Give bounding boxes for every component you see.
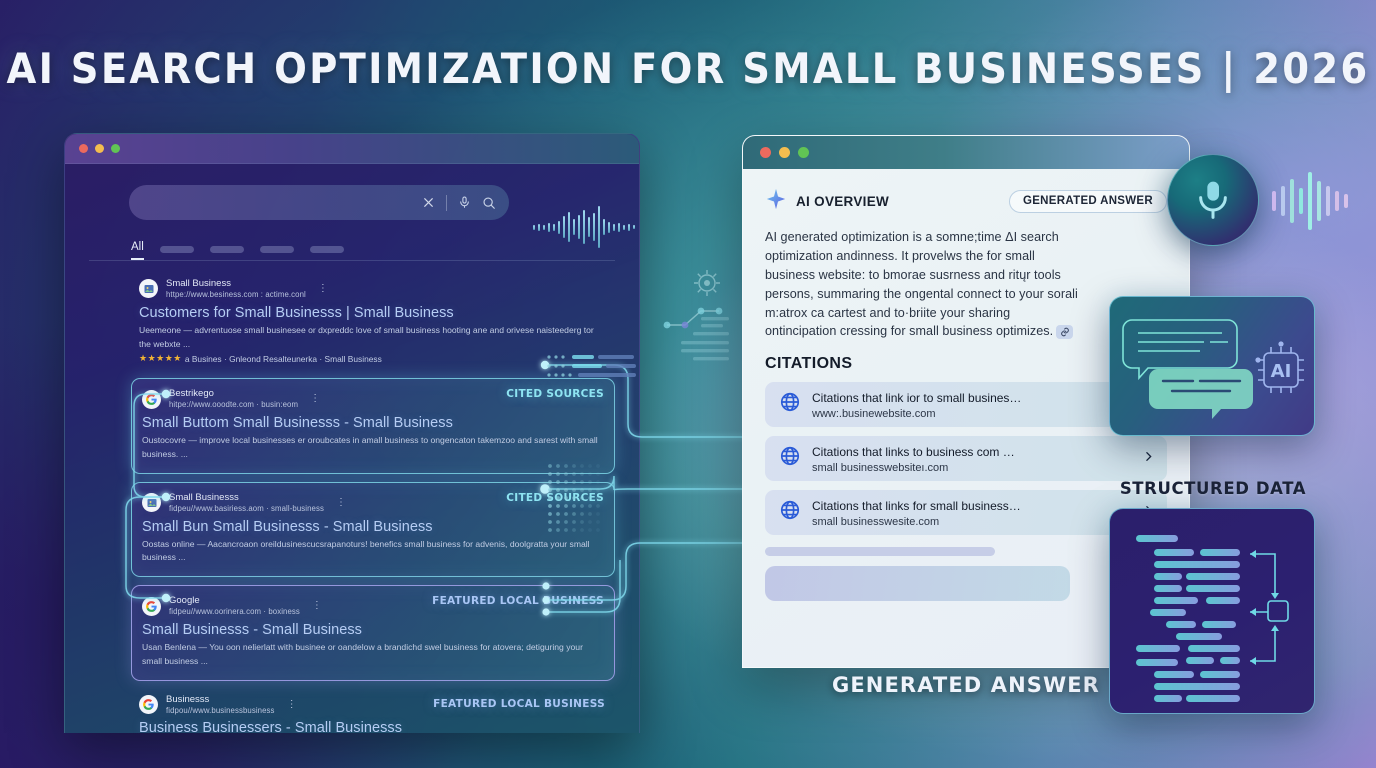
- ai-titlebar: [743, 136, 1189, 169]
- structured-data-illustration: AI: [1110, 297, 1315, 436]
- kebab-menu-icon[interactable]: ⋮: [336, 500, 346, 506]
- sparkle-icon: [765, 188, 787, 215]
- result-snippet: Oostas online — Aacancroaon oreildusines…: [142, 538, 604, 566]
- tab-placeholder[interactable]: [160, 246, 194, 253]
- result-url: httpe://www.besiness.com : actime.conl: [166, 290, 306, 300]
- microphone-icon[interactable]: [458, 195, 471, 210]
- microphone-icon: [1193, 177, 1233, 223]
- result-meta: Bestrikego hitpe://www.ooodte.com · busi…: [169, 388, 298, 410]
- result-site: Google: [169, 595, 300, 607]
- window-minimize-dot[interactable]: [95, 144, 104, 153]
- ai-overview-text: AI generated optimization is a somne;tim…: [765, 228, 1080, 341]
- result-title[interactable]: Small Businesss - Small Business: [142, 622, 604, 638]
- audio-waveform-decor: [533, 206, 635, 248]
- citation-text: Citations that links for small business……: [812, 497, 1131, 528]
- tab-placeholder[interactable]: [210, 246, 244, 253]
- result-site: Small Businesss: [169, 492, 324, 504]
- structured-data-label: STRUCTURED DATA: [1107, 479, 1319, 498]
- citation-title: Citations that links to business com …: [812, 445, 1015, 459]
- tabs-divider: [89, 260, 615, 261]
- close-icon[interactable]: [422, 196, 435, 209]
- result-site: Businesss: [166, 694, 275, 706]
- tab-all[interactable]: All: [131, 242, 144, 261]
- citation-url: small businesswebsiteı.com: [812, 462, 1131, 474]
- search-result-item[interactable]: Small Business httpe://www.besiness.com …: [131, 273, 615, 370]
- window-minimize-dot[interactable]: [779, 147, 790, 158]
- status-badge: CITED SOURCES: [506, 492, 604, 504]
- result-url: fidpeu//www.oorinera.com · boxiness: [169, 607, 300, 617]
- result-meta: Small Businesss fidpeu//www.basiriess.ao…: [169, 492, 324, 514]
- status-badge: FEATURED LOCAL BUSINESS: [433, 698, 605, 710]
- search-results-list: Small Business httpe://www.besiness.com …: [89, 273, 615, 733]
- kebab-menu-icon[interactable]: ⋮: [310, 396, 320, 402]
- google-favicon: [139, 695, 158, 714]
- result-meta: Small Business httpe://www.besiness.com …: [166, 278, 306, 300]
- generated-answer-badge: GENERATED ANSWER: [1009, 190, 1167, 213]
- window-maximize-dot[interactable]: [798, 147, 809, 158]
- result-title[interactable]: Small Buttom Small Businesss - Small Bus…: [142, 415, 604, 431]
- result-snippet: Ueemeone — advrentuose small businesee o…: [139, 324, 607, 352]
- tab-placeholder[interactable]: [260, 246, 294, 253]
- result-url: fidpeu//www.basiriess.aom · small-busine…: [169, 504, 324, 514]
- divider: [446, 195, 447, 211]
- microphone-badge[interactable]: [1167, 154, 1259, 246]
- search-input[interactable]: [129, 185, 509, 220]
- content-placeholder-block: [765, 566, 1070, 601]
- result-rating: ★★★★★ a Busines · Gnleond Resalteunerka …: [139, 353, 607, 364]
- kebab-menu-icon[interactable]: ⋮: [318, 286, 328, 292]
- status-badge: CITED SOURCES: [506, 388, 604, 400]
- structured-data-panel: AI: [1109, 296, 1315, 436]
- citation-text: Citations that links to business com … s…: [812, 443, 1131, 474]
- image-favicon: [142, 493, 161, 512]
- result-meta: Businesss fidpou//www.businessbusiness: [166, 694, 275, 716]
- search-result-item-cited[interactable]: CITED SOURCES Small Businesss fidpeu//ww…: [131, 482, 615, 577]
- google-favicon: [142, 390, 161, 409]
- code-schema-illustration: [1110, 509, 1315, 714]
- result-url: fidpou//www.businessbusiness: [166, 706, 275, 716]
- ai-overview-paragraph: AI generated optimization is a somne;tim…: [765, 230, 1078, 338]
- tab-placeholder[interactable]: [310, 246, 344, 253]
- citation-url: www:.businewebsite.com: [812, 408, 1131, 420]
- google-favicon: [142, 597, 161, 616]
- citation-title: Citations that link ior to small busines…: [812, 391, 1021, 405]
- content-placeholder-bar: [765, 547, 995, 556]
- serp-browser-window: All Small Business httpe://www.besiness.…: [64, 133, 640, 733]
- search-icon[interactable]: [482, 196, 496, 210]
- chevron-right-icon[interactable]: [1142, 448, 1155, 470]
- ai-overview-header: AI OVERVIEW GENERATED ANSWER: [765, 188, 1167, 215]
- result-header: Small Business httpe://www.besiness.com …: [139, 278, 607, 300]
- page-title: AI SEARCH OPTIMIZATION FOR SMALL BUSINES…: [0, 44, 1376, 93]
- code-schema-panel: [1109, 508, 1315, 714]
- kebab-menu-icon[interactable]: ⋮: [287, 702, 297, 708]
- serp-titlebar: [65, 134, 639, 164]
- ai-overview-title-group: AI OVERVIEW: [765, 188, 889, 215]
- citation-title: Citations that links for small business…: [812, 499, 1021, 513]
- globe-icon: [779, 499, 801, 526]
- kebab-menu-icon[interactable]: ⋮: [312, 603, 322, 609]
- result-meta: Google fidpeu//www.oorinera.com · boxine…: [169, 595, 300, 617]
- window-maximize-dot[interactable]: [111, 144, 120, 153]
- window-close-dot[interactable]: [79, 144, 88, 153]
- result-title[interactable]: Small Bun Small Businesss - Small Busine…: [142, 519, 604, 535]
- search-result-item-cited[interactable]: CITED SOURCES Bestrikego hitpe://www.ooo…: [131, 378, 615, 473]
- ai-chip-label: AI: [1271, 361, 1292, 382]
- ai-overview-label: AI OVERVIEW: [796, 194, 889, 209]
- globe-icon: [779, 391, 801, 418]
- result-snippet: Usan Benlena — You oon nelierlatt with b…: [142, 641, 604, 669]
- result-url: hitpe://www.ooodte.com · busin:eom: [169, 400, 298, 410]
- citations-heading: CITATIONS: [765, 355, 1167, 373]
- window-close-dot[interactable]: [760, 147, 771, 158]
- search-result-item-featured[interactable]: FEATURED LOCAL BUSINESS Google fidpeu//w…: [131, 585, 615, 680]
- result-site: Bestrikego: [169, 388, 298, 400]
- rating-text: a Busines · Gnleond Resalteunerka · Smal…: [185, 354, 382, 364]
- search-result-item[interactable]: FEATURED LOCAL BUSINESS Businesss fidpou…: [131, 689, 615, 733]
- citation-text: Citations that link ior to small busines…: [812, 389, 1131, 420]
- link-icon[interactable]: [1056, 325, 1073, 339]
- serp-body: All Small Business httpe://www.besiness.…: [65, 164, 639, 733]
- citation-item[interactable]: Citations that link ior to small busines…: [765, 382, 1167, 427]
- result-title[interactable]: Business Businessers - Small Businesss: [139, 720, 607, 733]
- globe-icon: [779, 445, 801, 472]
- audio-waveform-decor: [1272, 168, 1348, 234]
- citation-item[interactable]: Citations that links to business com … s…: [765, 436, 1167, 481]
- result-site: Small Business: [166, 278, 306, 290]
- citation-url: small businesswesite.com: [812, 516, 1131, 528]
- image-favicon: [139, 279, 158, 298]
- status-badge: FEATURED LOCAL BUSINESS: [432, 595, 604, 607]
- result-snippet: Oustocovre — improve local businesses er…: [142, 434, 604, 462]
- star-rating-icon: ★★★★★: [139, 353, 182, 364]
- result-title[interactable]: Customers for Small Businesss | Small Bu…: [139, 305, 607, 321]
